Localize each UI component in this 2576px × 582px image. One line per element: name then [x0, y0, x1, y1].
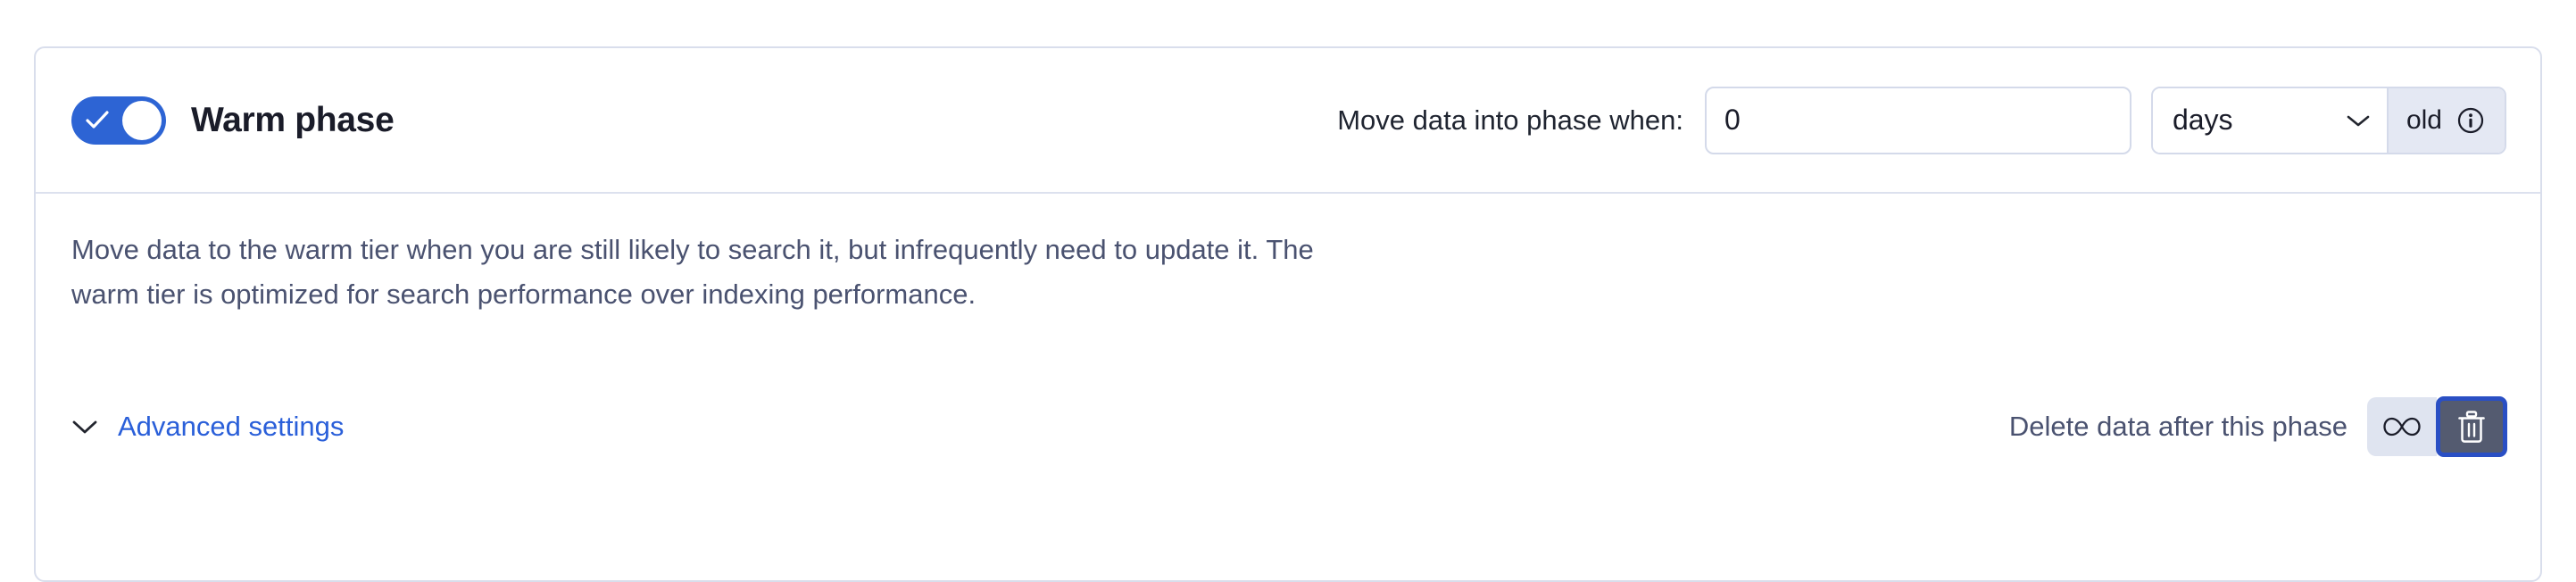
warm-phase-toggle[interactable]: [71, 96, 166, 145]
advanced-settings-label: Advanced settings: [118, 411, 344, 443]
min-age-input[interactable]: [1705, 87, 2131, 154]
unit-select-group: days old: [2151, 87, 2506, 154]
checkmark-icon: [86, 110, 109, 131]
unit-select[interactable]: days: [2153, 88, 2387, 153]
delete-data-controls: Delete data after this phase: [2009, 397, 2506, 456]
advanced-settings-toggle[interactable]: Advanced settings: [71, 411, 344, 443]
infinity-icon: [2382, 415, 2422, 438]
info-circle-icon[interactable]: [2456, 106, 2485, 135]
phase-body: Move data to the warm tier when you are …: [36, 194, 2540, 579]
chevron-down-icon: [71, 419, 98, 435]
retention-button-group: [2367, 397, 2506, 456]
unit-suffix-append: old: [2387, 88, 2505, 153]
phase-timing-controls: Move data into phase when: days old: [1337, 87, 2506, 154]
page-title: Warm phase: [191, 101, 394, 140]
delete-data-label: Delete data after this phase: [2009, 411, 2347, 443]
unit-suffix-label: old: [2406, 105, 2442, 136]
phase-description: Move data to the warm tier when you are …: [71, 228, 1321, 317]
unit-select-value: days: [2173, 104, 2346, 137]
trash-icon: [2456, 410, 2487, 444]
phase-header: Warm phase Move data into phase when: da…: [36, 48, 2540, 194]
warm-phase-card: Warm phase Move data into phase when: da…: [34, 46, 2542, 582]
delete-data-button[interactable]: [2437, 397, 2506, 456]
keep-forever-button[interactable]: [2367, 397, 2437, 456]
move-data-label: Move data into phase when:: [1337, 104, 1683, 137]
phase-footer: Advanced settings Delete data after this…: [71, 397, 2506, 456]
toggle-knob: [122, 101, 162, 140]
chevron-down-icon: [2346, 113, 2371, 128]
